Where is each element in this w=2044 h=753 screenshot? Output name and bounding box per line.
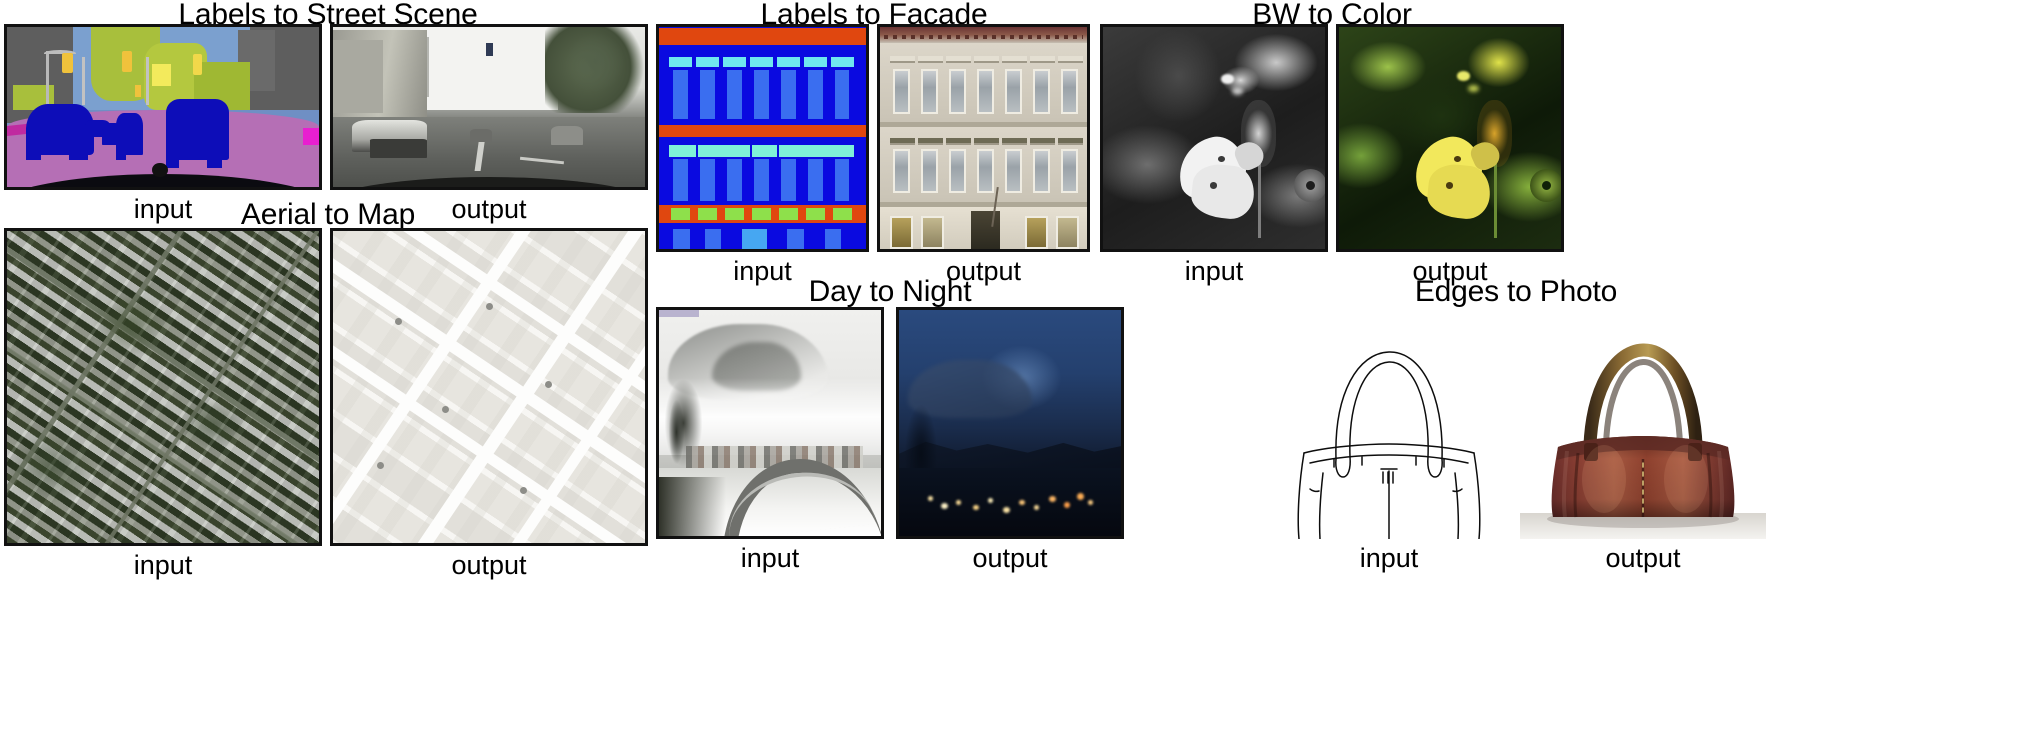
colorized-photo	[1339, 27, 1561, 249]
figure-root: Labels to Street Scene	[0, 0, 2044, 753]
output-cell: output	[330, 24, 648, 225]
facade-photo-image	[877, 24, 1090, 252]
street-photo-image	[330, 24, 648, 190]
night-photo-image	[896, 307, 1124, 539]
street-photo	[333, 27, 645, 187]
segmentation-map	[7, 27, 319, 187]
panel-bw-to-color: BW to Color input	[1100, 0, 1564, 290]
panel-labels-to-facade: Labels to Facade	[656, 0, 1092, 290]
output-cell: output	[1520, 307, 1766, 574]
panel-day-to-night: Day to Night input	[656, 275, 1124, 753]
aerial-photo-image	[4, 228, 322, 546]
handbag-photo-svg	[1520, 307, 1766, 539]
output-caption: output	[896, 543, 1124, 574]
town-lights	[917, 482, 1103, 523]
night-photo	[899, 310, 1121, 536]
panel-title: Day to Night	[656, 275, 1124, 309]
day-photo	[659, 310, 881, 536]
map-render-image	[330, 228, 648, 546]
input-caption: input	[656, 543, 884, 574]
output-cell: output	[896, 307, 1124, 574]
facade-photo	[880, 27, 1087, 249]
panel-title: Aerial to Map	[4, 198, 652, 232]
panel-edges-to-photo: Edges to Photo	[1140, 275, 1640, 753]
output-cell: output	[330, 228, 648, 581]
handbag-edges-svg	[1266, 307, 1512, 539]
output-cell: output	[1336, 24, 1564, 287]
edge-drawing-image	[1266, 307, 1512, 539]
panel-title: Edges to Photo	[1266, 275, 1766, 309]
facade-label-map	[659, 27, 866, 249]
output-caption: output	[1520, 543, 1766, 574]
map-render	[333, 231, 645, 543]
input-cell: input	[656, 24, 869, 287]
output-caption: output	[330, 550, 648, 581]
facade-label-map-image	[656, 24, 869, 252]
aerial-photo	[7, 231, 319, 543]
input-cell: input	[1266, 307, 1512, 574]
day-photo-image	[656, 307, 884, 539]
handbag-photo-image	[1520, 307, 1766, 539]
input-cell: input	[656, 307, 884, 574]
input-cell: input	[4, 24, 322, 225]
bw-photo	[1103, 27, 1325, 249]
input-caption: input	[1266, 543, 1512, 574]
input-cell: input	[1100, 24, 1328, 287]
output-cell: output	[877, 24, 1090, 287]
input-caption: input	[4, 550, 322, 581]
panel-aerial-to-map: Aerial to Map input	[4, 198, 652, 753]
color-butterfly-image	[1336, 24, 1564, 252]
panel-labels-to-street-scene: Labels to Street Scene	[4, 0, 652, 216]
street-label-map-image	[4, 24, 322, 190]
input-cell: input	[4, 228, 322, 581]
bw-butterfly-image	[1100, 24, 1328, 252]
